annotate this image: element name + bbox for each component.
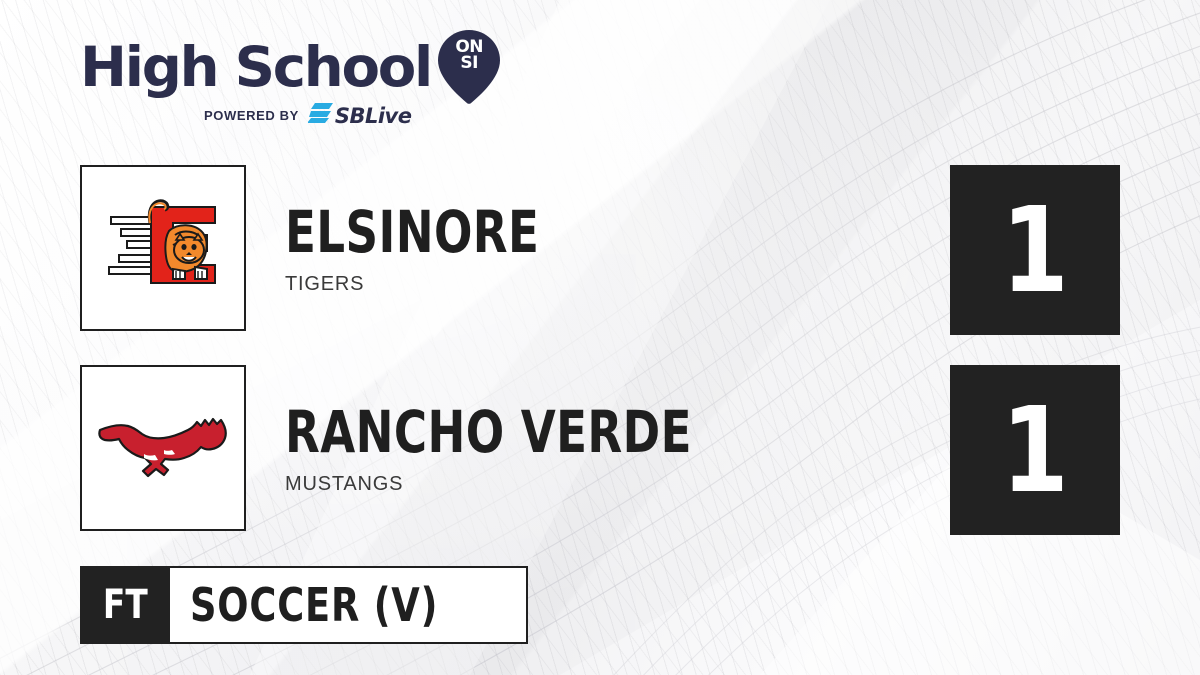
team-score: 1 bbox=[1001, 391, 1068, 509]
team-name: RANCHO VERDE bbox=[285, 403, 692, 461]
on-si-pin-icon: ON SI bbox=[438, 30, 500, 104]
sblive-logo: SBLive bbox=[308, 102, 412, 129]
pin-label-si: SI bbox=[438, 55, 500, 71]
team-row: RANCHO VERDE MUSTANGS 1 bbox=[80, 365, 1120, 535]
sport-label: SOCCER (V) bbox=[190, 578, 438, 632]
rancho-verde-mustangs-logo-icon bbox=[98, 408, 228, 488]
team-text-block: RANCHO VERDE MUSTANGS bbox=[285, 365, 807, 531]
team-logo-box bbox=[80, 165, 246, 331]
team-mascot: TIGERS bbox=[285, 274, 611, 294]
team-score-box: 1 bbox=[950, 165, 1120, 335]
on-si-pin-label: ON SI bbox=[438, 39, 500, 71]
team-score-box: 1 bbox=[950, 365, 1120, 535]
powered-by-label: POWERED BY bbox=[204, 108, 299, 123]
team-row: ELSINORE TIGERS 1 bbox=[80, 165, 1120, 335]
team-text-block: ELSINORE TIGERS bbox=[285, 165, 611, 331]
powered-by-row: POWERED BY SBLive bbox=[80, 102, 510, 129]
brand-title-row: High School ON SI bbox=[80, 34, 510, 100]
team-logo-box bbox=[80, 365, 246, 531]
brand-header: High School ON SI POWERED BY bbox=[80, 34, 510, 134]
sport-label-panel: SOCCER (V) bbox=[170, 566, 528, 644]
game-status-bar: FT SOCCER (V) bbox=[80, 566, 528, 644]
elsinore-tigers-logo-icon bbox=[103, 193, 223, 303]
team-name: ELSINORE bbox=[285, 203, 539, 261]
scoreboard-graphic: High School ON SI POWERED BY bbox=[0, 0, 1200, 675]
status-badge: FT bbox=[80, 566, 170, 644]
team-mascot: MUSTANGS bbox=[285, 474, 807, 494]
sblive-s-icon bbox=[308, 102, 334, 129]
page-title: High School bbox=[80, 40, 431, 95]
sblive-wordmark: SBLive bbox=[335, 104, 412, 128]
team-score: 1 bbox=[1001, 191, 1068, 309]
status-badge-label: FT bbox=[103, 582, 148, 628]
